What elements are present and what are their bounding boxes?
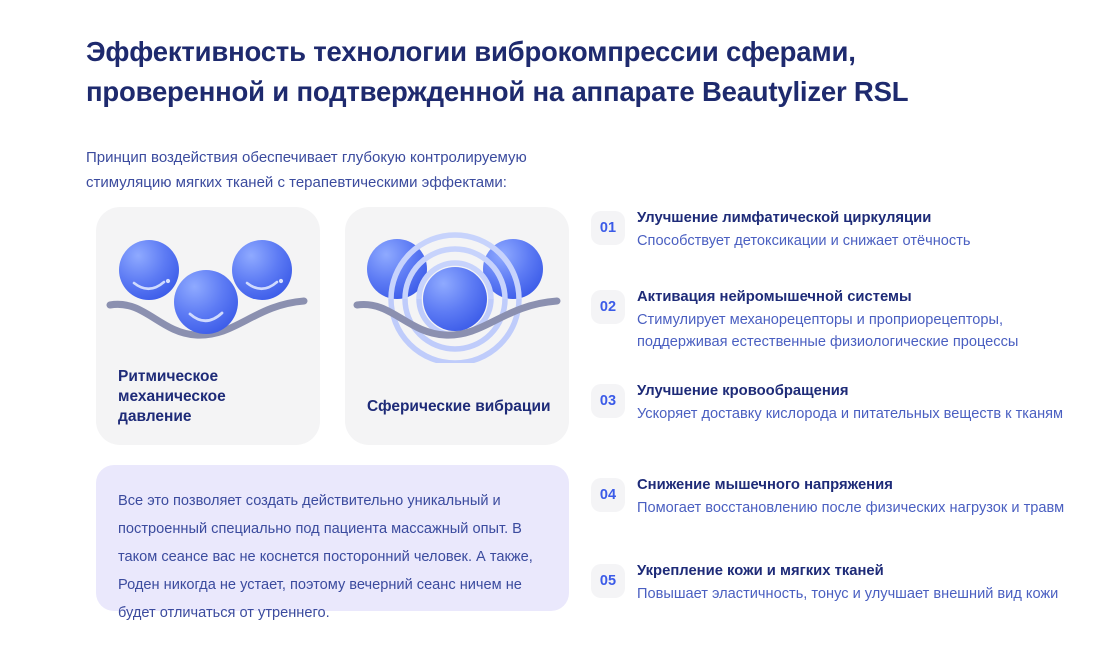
list-item: 04 Снижение мышечного напряжения Помогае… (591, 474, 1065, 519)
page-title-line-1: Эффективность технологии виброкомпрессии… (86, 32, 1016, 72)
benefit-number-badge: 01 (591, 211, 625, 245)
card-rhythmic-pressure: Ритмическое механическое давление (96, 207, 320, 445)
page-title-line-2: проверенной и подтвержденной на аппарате… (86, 72, 1016, 112)
card-title: Сферические вибрации (367, 397, 552, 417)
list-item: 02 Активация нейромышечной системы Стиму… (591, 286, 1065, 353)
benefit-number-badge: 05 (591, 564, 625, 598)
benefit-title: Укрепление кожи и мягких тканей (637, 560, 1065, 582)
intro-line-1: Принцип воздействия обеспечивает глубоку… (86, 145, 606, 170)
benefit-title: Снижение мышечного напряжения (637, 474, 1065, 496)
benefit-description: Повышает эластичность, тонус и улучшает … (637, 583, 1065, 605)
summary-note-text: Все это позволяет создать действительно … (118, 487, 543, 627)
card-title: Ритмическое механическое давление (118, 367, 303, 427)
benefit-body: Укрепление кожи и мягких тканей Повышает… (637, 560, 1065, 605)
benefit-description: Стимулирует механорецепторы и проприорец… (637, 309, 1065, 353)
benefit-body: Улучшение лимфатической циркуляции Спосо… (637, 207, 1065, 252)
benefit-body: Активация нейромышечной системы Стимулир… (637, 286, 1065, 353)
three-spheres-wave-icon (96, 213, 320, 363)
benefit-title: Улучшение кровообращения (637, 380, 1065, 402)
list-item: 01 Улучшение лимфатической циркуляции Сп… (591, 207, 1065, 252)
promo-section: Эффективность технологии виброкомпрессии… (0, 0, 1105, 655)
benefit-description: Способствует детоксикации и снижает отёч… (637, 230, 1065, 252)
benefit-description: Ускоряет доставку кислорода и питательны… (637, 403, 1065, 425)
summary-note-box: Все это позволяет создать действительно … (96, 465, 569, 611)
benefit-number-badge: 02 (591, 290, 625, 324)
benefit-number-badge: 03 (591, 384, 625, 418)
intro-line-2: стимуляцию мягких тканей с терапевтическ… (86, 170, 606, 195)
spheres-vibration-waves-icon (345, 213, 569, 363)
page-title: Эффективность технологии виброкомпрессии… (86, 32, 1016, 112)
benefit-title: Активация нейромышечной системы (637, 286, 1065, 308)
benefit-description: Помогает восстановлению после физических… (637, 497, 1065, 519)
intro-paragraph: Принцип воздействия обеспечивает глубоку… (86, 145, 606, 195)
list-item: 03 Улучшение кровообращения Ускоряет дос… (591, 380, 1065, 425)
benefit-body: Снижение мышечного напряжения Помогает в… (637, 474, 1065, 519)
list-item: 05 Укрепление кожи и мягких тканей Повыш… (591, 560, 1065, 605)
benefit-body: Улучшение кровообращения Ускоряет достав… (637, 380, 1065, 425)
card-spherical-vibrations: Сферические вибрации (345, 207, 569, 445)
benefit-number-badge: 04 (591, 478, 625, 512)
benefit-title: Улучшение лимфатической циркуляции (637, 207, 1065, 229)
